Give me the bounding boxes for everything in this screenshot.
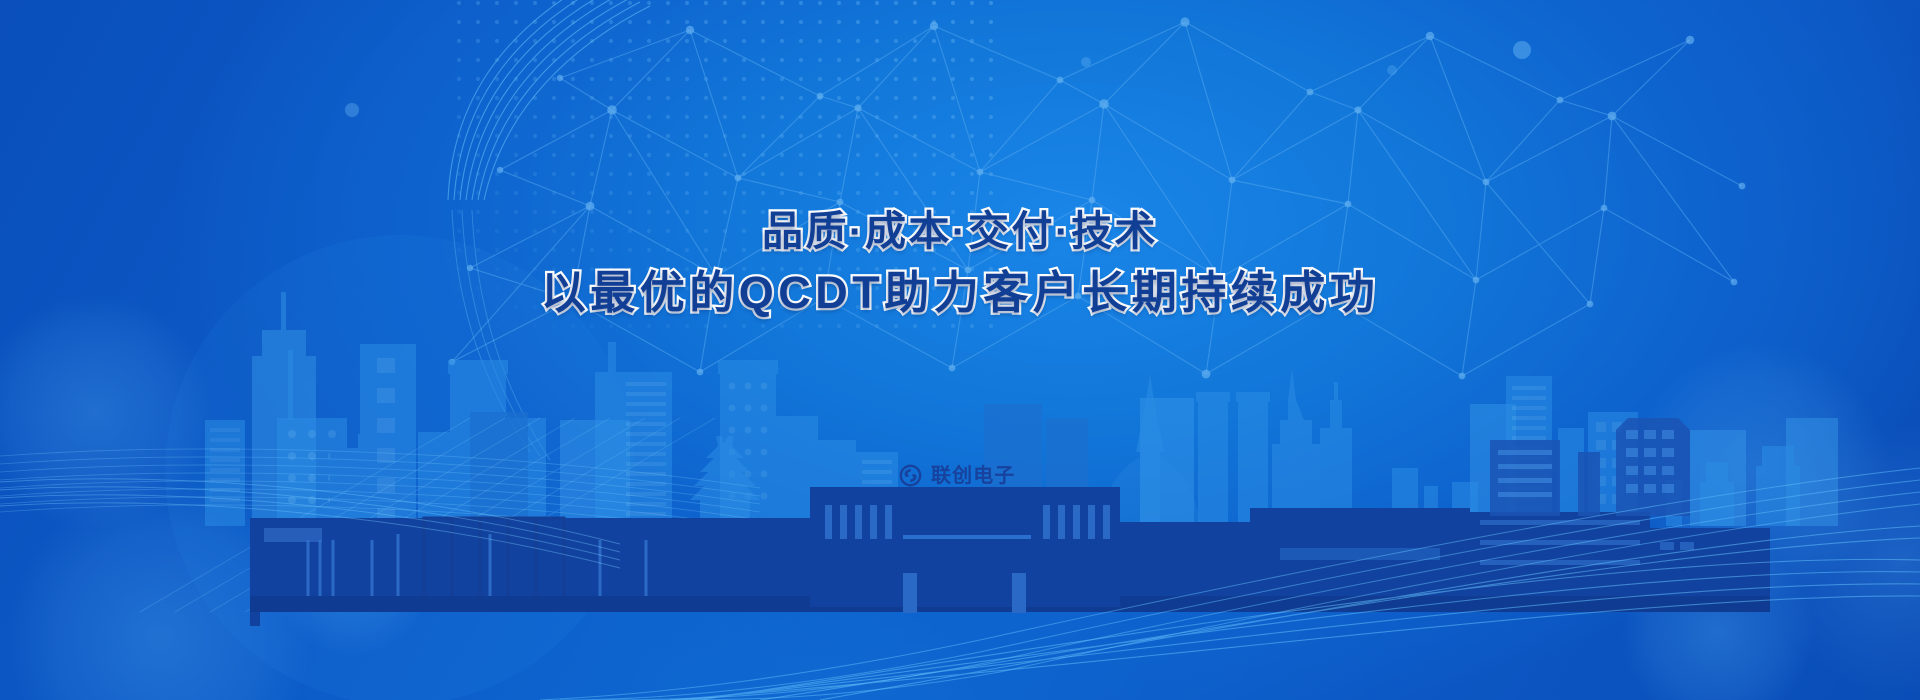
swirl-spiral-icon bbox=[898, 463, 923, 488]
wave-ribbons-layer bbox=[0, 0, 1920, 700]
company-logo: 联创电子 bbox=[898, 463, 1015, 488]
hero-banner: 品质·成本·交付·技术 以最优的QCDT助力客户长期持续成功 联创电子 bbox=[0, 0, 1920, 700]
logo-wordmark: 联创电子 bbox=[931, 466, 1015, 486]
